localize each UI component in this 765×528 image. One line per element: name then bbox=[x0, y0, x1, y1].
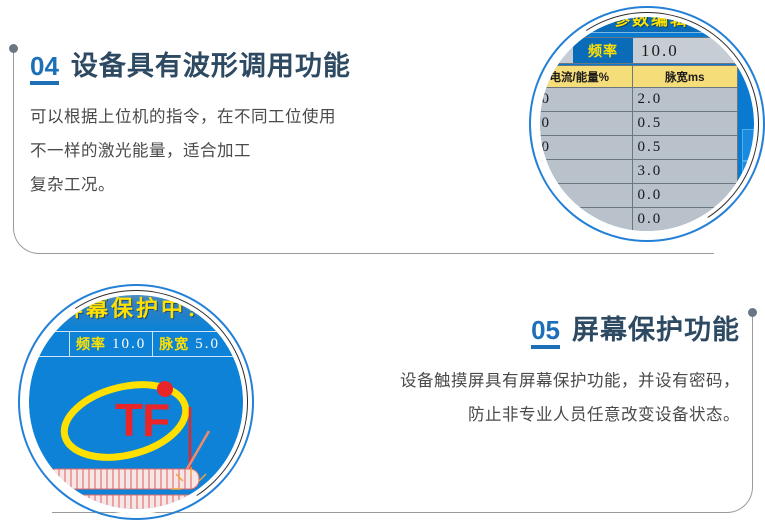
column-header-current: 电流/能量% bbox=[540, 66, 632, 88]
table-header-row: 电流/能量% 脉宽ms bbox=[540, 66, 738, 88]
hmi-title-extra-button[interactable] bbox=[720, 17, 754, 33]
status-pulsewidth: 脉宽 5.0 bbox=[152, 332, 226, 356]
table-row[interactable]: 70 2.0 bbox=[540, 88, 738, 112]
hmi-frequency-label: 频率 bbox=[573, 38, 633, 63]
screensaver-photo: 屏幕保护中！ 频率 10.0 脉宽 5.0 bbox=[18, 284, 254, 520]
keypad-key-blank-d[interactable] bbox=[742, 225, 754, 231]
screensaver-message: 屏幕保护中！ bbox=[29, 295, 243, 323]
section-05-text: 05 屏幕保护功能 设备触摸屏具有屏幕保护功能，并设有密码， 防止非专业人员任意… bbox=[300, 316, 740, 433]
hmi-frequency-value[interactable]: 10.0 bbox=[633, 41, 739, 61]
status-frequency-label: 频率 bbox=[76, 334, 106, 354]
status-frequency-value: 10.0 bbox=[112, 336, 146, 353]
cell-pulsewidth[interactable]: 0.0 bbox=[632, 184, 738, 208]
cell-current[interactable]: 30 bbox=[540, 160, 632, 184]
logo-text: TF bbox=[115, 397, 169, 443]
coil-illustration bbox=[41, 465, 231, 509]
waveform-chart: 100 50 0 0 5 bbox=[748, 45, 754, 111]
bottom-frame-dot bbox=[748, 308, 757, 317]
section-04-text: 04 设备具有波形调用功能 可以根据上位机的指令，在不同工位使用 不一样的激光能… bbox=[30, 52, 460, 202]
hmi-parameter-editor: 参数编辑 频率 10.0 电流/能量% 脉宽ms bbox=[540, 17, 754, 231]
status-bar-spacer bbox=[29, 332, 69, 356]
section-04-number: 04 bbox=[30, 53, 59, 85]
cell-pulsewidth[interactable]: 0.5 bbox=[632, 136, 738, 160]
table-row[interactable]: 0 0.0 bbox=[540, 208, 738, 232]
table-row[interactable]: 0 0.0 bbox=[540, 184, 738, 208]
status-pulsewidth-value: 5.0 bbox=[195, 336, 220, 353]
column-header-pulsewidth: 脉宽ms bbox=[632, 66, 738, 88]
waveform-ytick-100: 100 bbox=[749, 51, 754, 58]
param-editor-photo: 参数编辑 频率 10.0 电流/能量% 脉宽ms bbox=[529, 6, 765, 242]
top-frame-dot bbox=[9, 44, 18, 53]
screensaver-status-bar: 频率 10.0 脉宽 5.0 bbox=[29, 331, 243, 357]
cell-pulsewidth[interactable]: 3.0 bbox=[632, 160, 738, 184]
keypad-key-1[interactable]: 1 bbox=[742, 129, 754, 161]
cell-current[interactable]: 30 bbox=[540, 136, 632, 160]
cell-current[interactable]: 0 bbox=[540, 184, 632, 208]
section-05-body: 设备触摸屏具有屏幕保护功能，并设有密码， 防止非专业人员任意改变设备状态。 bbox=[300, 365, 740, 433]
table-row[interactable]: 30 3.0 bbox=[540, 160, 738, 184]
hmi-window-title: 参数编辑 bbox=[586, 17, 716, 33]
table-row[interactable]: 30 0.5 bbox=[540, 136, 738, 160]
status-frequency: 频率 10.0 bbox=[69, 332, 152, 356]
brand-logo: TF bbox=[53, 369, 213, 479]
hmi-keypad: 1 4 7 bbox=[742, 129, 754, 231]
hmi-screensaver: 屏幕保护中！ 频率 10.0 脉宽 5.0 bbox=[29, 295, 243, 509]
hmi-parameter-table: 电流/能量% 脉宽ms 70 2.0 70 0.5 bbox=[540, 65, 738, 231]
section-04-title: 设备具有波形调用功能 bbox=[71, 52, 351, 82]
section-05-number: 05 bbox=[531, 317, 560, 349]
screensaver-screen: 屏幕保护中！ 频率 10.0 脉宽 5.0 bbox=[29, 295, 243, 509]
hmi-frequency-row: 频率 10.0 bbox=[540, 37, 740, 64]
status-pulsewidth-label: 脉宽 bbox=[159, 334, 189, 354]
keypad-key-4[interactable]: 4 bbox=[742, 161, 754, 193]
cell-pulsewidth[interactable]: 0.5 bbox=[632, 112, 738, 136]
section-05-title: 屏幕保护功能 bbox=[572, 316, 740, 346]
cell-current[interactable]: 70 bbox=[540, 112, 632, 136]
param-editor-screen: 参数编辑 频率 10.0 电流/能量% 脉宽ms bbox=[540, 17, 754, 231]
section-04-headline: 04 设备具有波形调用功能 bbox=[30, 52, 460, 85]
section-04-body: 可以根据上位机的指令，在不同工位使用 不一样的激光能量，适合加工 复杂工况。 bbox=[30, 101, 460, 202]
table-row[interactable]: 70 0.5 bbox=[540, 112, 738, 136]
cell-current[interactable]: 0 bbox=[540, 208, 632, 232]
section-05-headline: 05 屏幕保护功能 bbox=[300, 316, 740, 349]
keypad-key-7[interactable]: 7 bbox=[742, 193, 754, 225]
cell-current[interactable]: 70 bbox=[540, 88, 632, 112]
waveform-ytick-50: 50 bbox=[753, 70, 754, 77]
promo-page: 04 设备具有波形调用功能 可以根据上位机的指令，在不同工位使用 不一样的激光能… bbox=[0, 0, 765, 528]
cell-pulsewidth[interactable]: 2.0 bbox=[632, 88, 738, 112]
cell-pulsewidth[interactable]: 0.0 bbox=[632, 208, 738, 232]
